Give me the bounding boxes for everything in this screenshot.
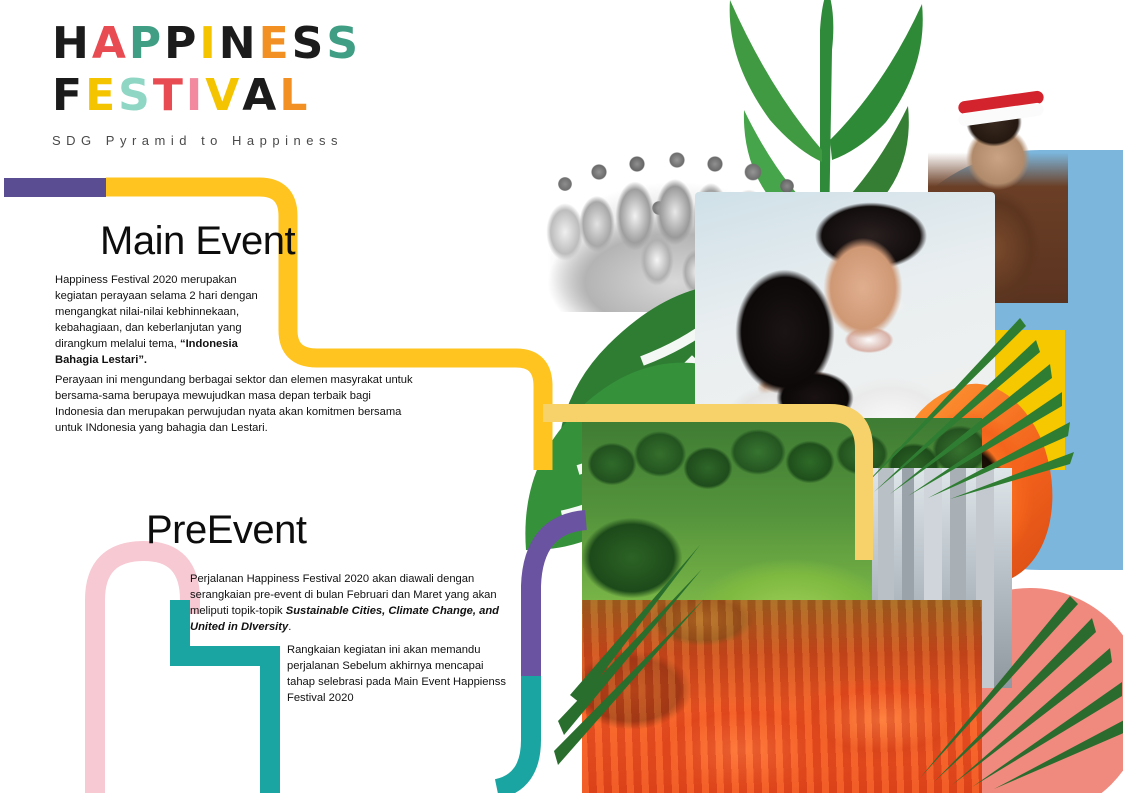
purple-bar [4,178,106,197]
preevent-paragraph-2: Rangkaian kegiatan ini akan memandu perj… [287,643,512,707]
palm-frond-icon-3 [550,545,710,793]
main-event-heading: Main Event [100,219,295,264]
palm-frond-icon [850,300,1080,500]
palm-frond-icon-2 [920,590,1123,790]
preevent-paragraph-1: Perjalanan Happiness Festival 2020 akan … [190,572,500,636]
logo-line-happiness: HAPPINESS HAPPINESS [52,24,382,64]
logo-tagline: SDG Pyramid to Happiness [52,133,382,148]
logo-line-festival: FESTIVAL FESTIVAL [52,76,382,116]
main-event-paragraph-1: Happiness Festival 2020 merupakan kegiat… [55,273,277,368]
festival-logo: HAPPINESS HAPPINESS FESTIVAL FESTIVAL SD… [52,24,382,148]
photo-collage [520,0,1123,793]
preevent-heading: PreEvent [146,508,307,553]
poster-canvas: HAPPINESS HAPPINESS FESTIVAL FESTIVAL SD… [0,0,1123,793]
main-event-paragraph-2: Perayaan ini mengundang berbagai sektor … [55,373,415,437]
pink-connector-preevent [95,551,190,793]
